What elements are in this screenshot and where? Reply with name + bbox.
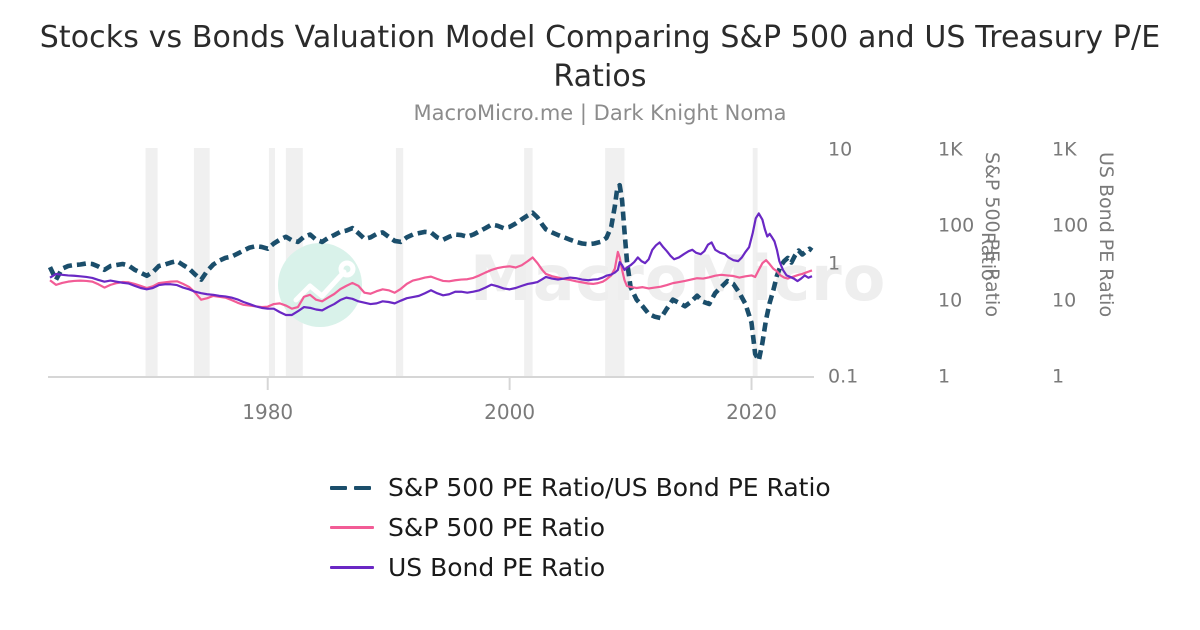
legend-swatch: [330, 558, 374, 578]
y-axis-tick-label: 10: [938, 292, 962, 311]
x-axis-tick-label: 2020: [726, 403, 777, 422]
legend-label: US Bond PE Ratio: [388, 553, 605, 583]
y-axis-tick-label: 1: [1052, 368, 1064, 387]
y-axis-title: US Bond PE Ratio: [1095, 152, 1117, 317]
x-axis-tick-label: 1980: [242, 403, 293, 422]
legend-item[interactable]: US Bond PE Ratio: [0, 548, 1200, 588]
recession-band: [146, 148, 158, 377]
legend-swatch: [330, 518, 374, 538]
legend-swatch: [330, 478, 374, 498]
y-axis-title: S&P 500 PE Ratio: [981, 152, 1003, 317]
y-axis-tick-label: 10: [1052, 292, 1076, 311]
y-axis-tick-label: 0.1: [828, 368, 858, 387]
y-axis-tick-label: 100: [1052, 216, 1088, 235]
recession-band: [396, 148, 403, 377]
recession-band: [194, 148, 210, 377]
y-axis-tick-label: 10: [828, 141, 852, 160]
y-axis-tick-label: 100: [938, 216, 974, 235]
y-axis-tick-label: 1: [828, 254, 840, 273]
recession-band: [269, 148, 275, 377]
chart-page: Stocks vs Bonds Valuation Model Comparin…: [0, 0, 1200, 630]
y-axis-tick-label: 1: [938, 368, 950, 387]
legend-label: S&P 500 PE Ratio: [388, 513, 605, 543]
legend-item[interactable]: S&P 500 PE Ratio/US Bond PE Ratio: [0, 468, 1200, 508]
legend-label: S&P 500 PE Ratio/US Bond PE Ratio: [388, 473, 831, 503]
legend-item[interactable]: S&P 500 PE Ratio: [0, 508, 1200, 548]
x-axis-tick-label: 2000: [484, 403, 535, 422]
y-axis-tick-label: 1K: [1052, 141, 1077, 160]
y-axis-tick-label: 1K: [938, 141, 963, 160]
chart-legend: S&P 500 PE Ratio/US Bond PE RatioS&P 500…: [0, 468, 1200, 588]
svg-text:MacroMicro: MacroMicro: [470, 242, 886, 315]
